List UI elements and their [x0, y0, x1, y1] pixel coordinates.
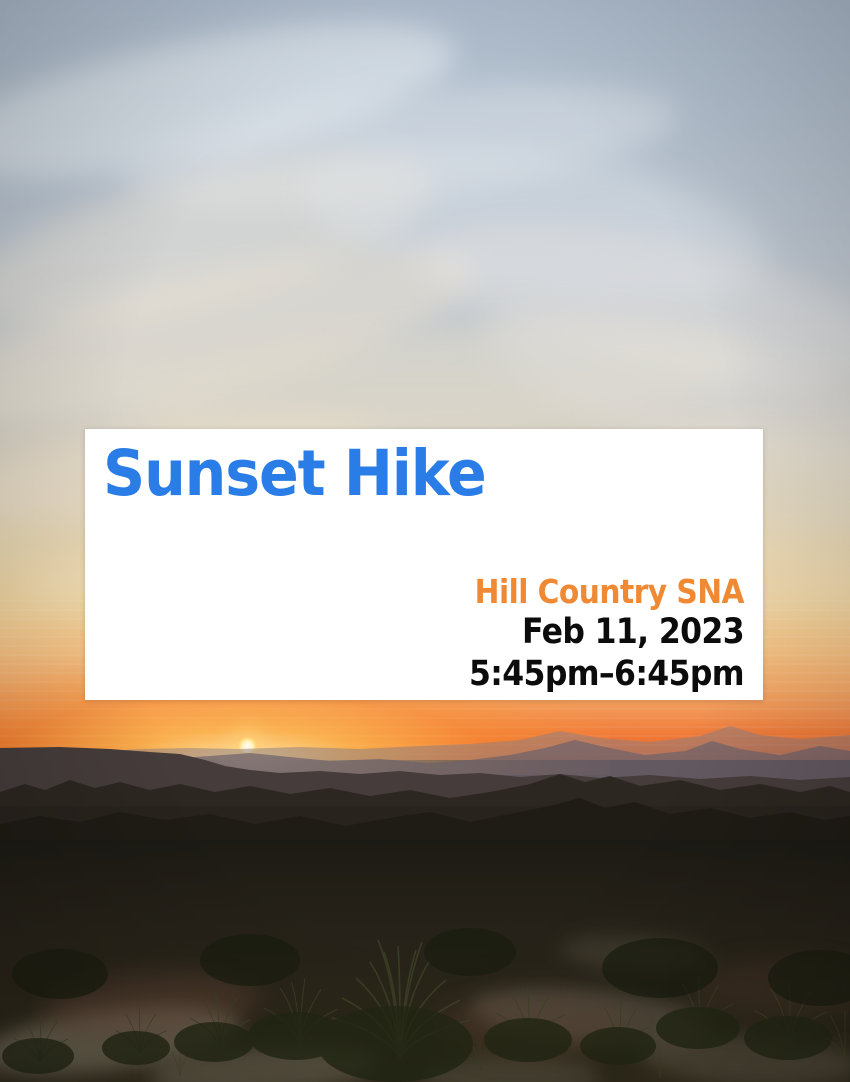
- setting-sun: [238, 737, 257, 756]
- event-location: Hill Country SNA: [164, 575, 744, 608]
- event-info-card: Sunset Hike Hill Country SNA Feb 11, 202…: [85, 429, 763, 700]
- page-title: Sunset Hike: [103, 443, 701, 505]
- event-details: Hill Country SNA Feb 11, 2023 5:45pm–6:4…: [100, 575, 746, 694]
- sunset-hike-poster: Sunset Hike Hill Country SNA Feb 11, 202…: [0, 0, 850, 1082]
- foreground-grass-clumps: [0, 848, 850, 1082]
- event-time: 5:45pm–6:45pm: [164, 657, 744, 692]
- event-date: Feb 11, 2023: [164, 615, 744, 650]
